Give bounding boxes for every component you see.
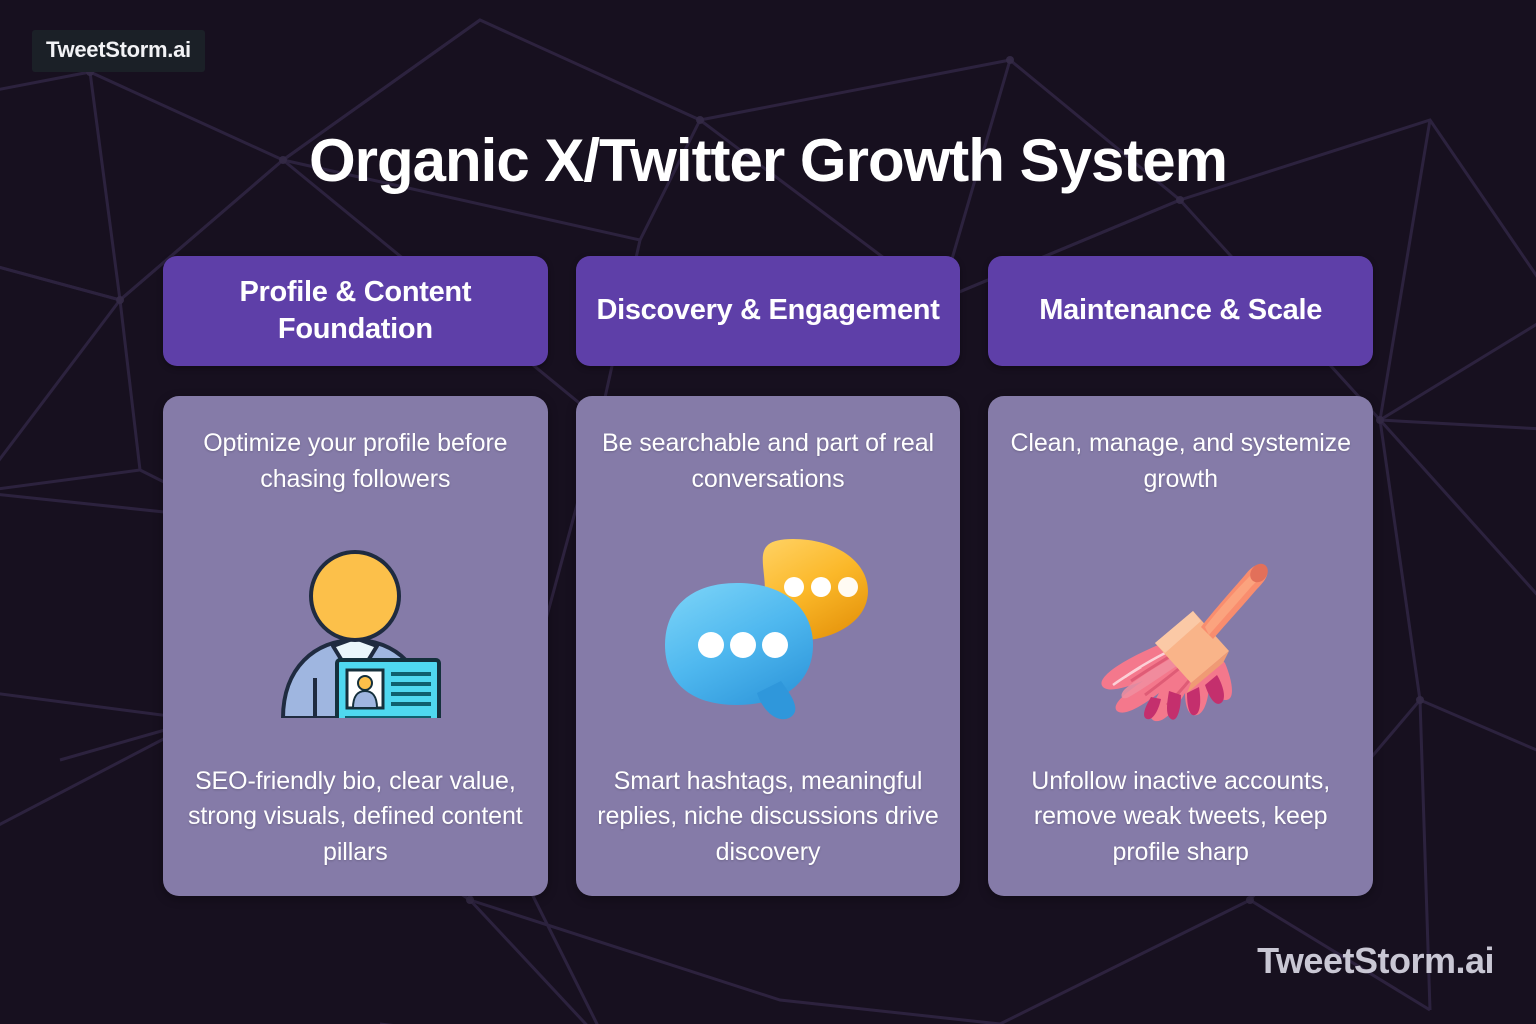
column-bottom-text-1: SEO-friendly bio, clear value, strong vi… [183,764,528,871]
column-body-1: Optimize your profile before chasing fol… [163,396,548,896]
column-maintenance-scale: Maintenance & Scale Clean, manage, and s… [988,256,1373,896]
column-profile-content-foundation: Profile & Content Foundation Optimize yo… [163,256,548,896]
columns-container: Profile & Content Foundation Optimize yo… [163,256,1373,896]
column-illustration-3 [1008,497,1353,764]
column-bottom-text-2: Smart hashtags, meaningful replies, nich… [596,764,941,871]
logo-badge: TweetStorm.ai [32,30,205,72]
column-top-text-3: Clean, manage, and systemize growth [1008,426,1353,497]
column-bottom-text-3: Unfollow inactive accounts, remove weak … [1008,764,1353,871]
column-body-2: Be searchable and part of real conversat… [576,396,961,896]
column-header-3: Maintenance & Scale [988,256,1373,366]
column-header-1: Profile & Content Foundation [163,256,548,366]
column-header-2: Discovery & Engagement [576,256,961,366]
speech-bubbles-icon [663,535,873,725]
profile-id-card-icon [267,542,443,718]
column-top-text-1: Optimize your profile before chasing fol… [183,426,528,497]
watermark-text: TweetStorm.ai [1257,940,1494,982]
column-discovery-engagement: Discovery & Engagement Be searchable and… [576,256,961,896]
column-illustration-2 [596,497,941,764]
column-illustration-1 [183,497,528,764]
page-title: Organic X/Twitter Growth System [0,126,1536,195]
column-top-text-2: Be searchable and part of real conversat… [596,426,941,497]
column-body-3: Clean, manage, and systemize growth [988,396,1373,896]
logo-text: TweetStorm.ai [46,37,191,62]
broom-duster-icon [1081,535,1281,725]
